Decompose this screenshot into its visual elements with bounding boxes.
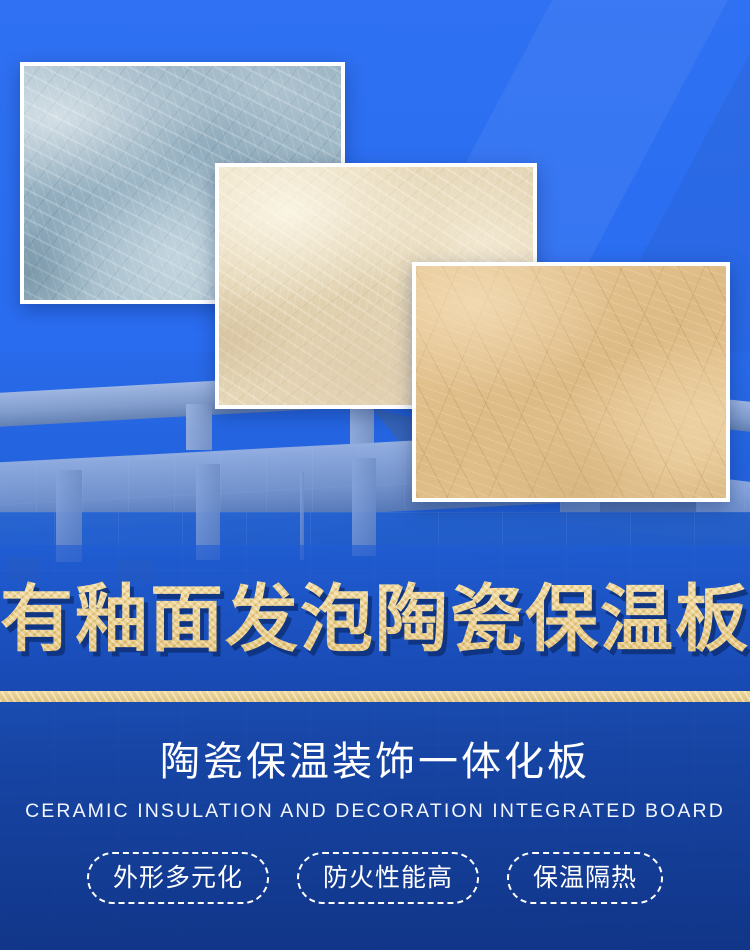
- feature-badge-3[interactable]: 保温隔热: [507, 852, 663, 904]
- feature-badge-2[interactable]: 防火性能高: [297, 852, 479, 904]
- subtitle-english: CERAMIC INSULATION AND DECORATION INTEGR…: [0, 798, 750, 824]
- gold-divider: [0, 691, 750, 702]
- feature-badge-group: 外形多元化 防火性能高 保温隔热: [0, 852, 750, 904]
- feature-badge-1[interactable]: 外形多元化: [87, 852, 269, 904]
- subtitle-chinese: 陶瓷保温装饰一体化板: [0, 737, 750, 787]
- tile-sample-3: [412, 262, 730, 502]
- tile-sample-3-surface: [416, 266, 726, 498]
- headline-title: 有釉面发泡陶瓷保温板: [0, 578, 750, 662]
- product-banner: 有釉面发泡陶瓷保温板 陶瓷保温装饰一体化板 CERAMIC INSULATION…: [0, 0, 750, 950]
